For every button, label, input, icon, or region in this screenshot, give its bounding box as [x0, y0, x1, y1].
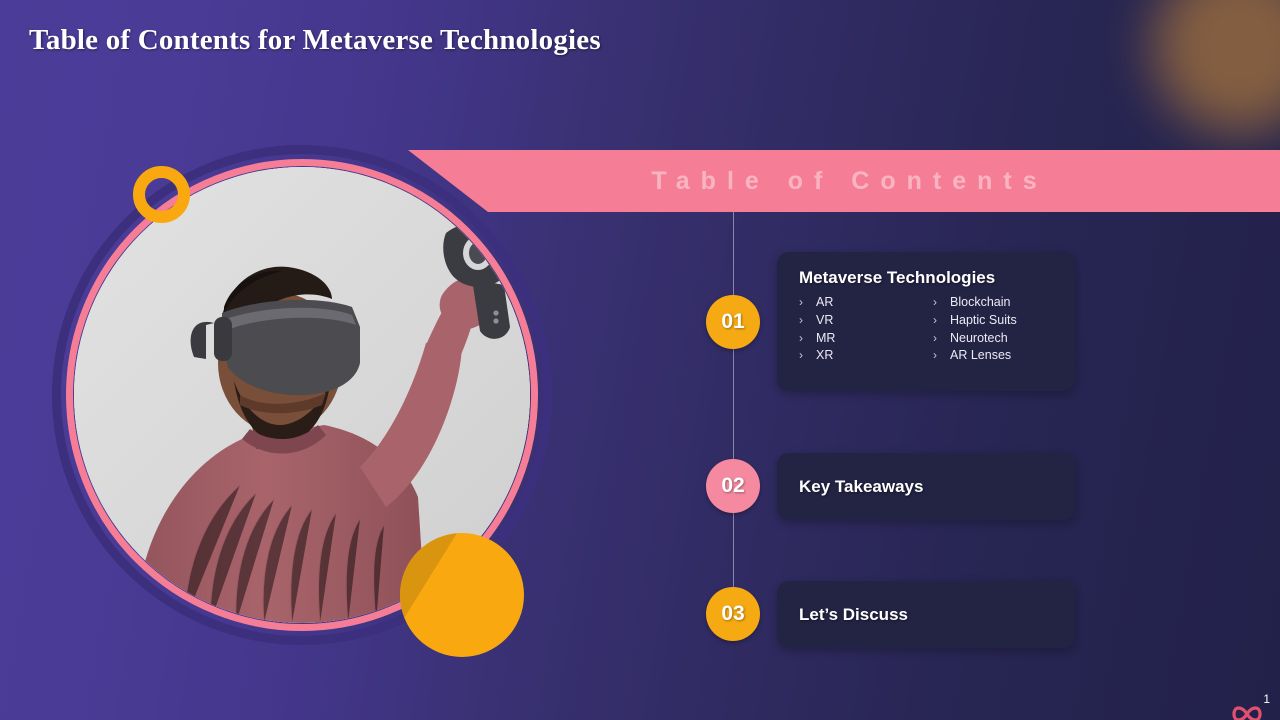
list-item-label: Neurotech	[950, 330, 1008, 348]
chevron-right-icon: ›	[799, 330, 816, 348]
chevron-right-icon: ›	[799, 347, 816, 365]
list-item-label: XR	[816, 347, 833, 365]
list-item-label: MR	[816, 330, 835, 348]
contents-badge-02[interactable]: 02	[706, 459, 760, 513]
infinity-logo-icon	[1218, 699, 1276, 720]
contents-card-01[interactable]: Metaverse Technologies ›AR ›VR ›MR ›XR ›…	[777, 252, 1075, 391]
contents-banner-label: Table of Contents	[408, 150, 1280, 212]
list-item-label: VR	[816, 312, 833, 330]
chevron-right-icon: ›	[933, 347, 950, 365]
list-item: ›Neurotech	[933, 330, 1067, 348]
list-item: ›Haptic Suits	[933, 312, 1067, 330]
contents-card-01-column-right: ›Blockchain ›Haptic Suits ›Neurotech ›AR…	[933, 294, 1067, 365]
list-item-label: AR	[816, 294, 833, 312]
contents-card-03-title: Let’s Discuss	[777, 581, 1075, 648]
timeline-connector	[733, 212, 734, 616]
contents-card-02[interactable]: Key Takeaways	[777, 453, 1075, 520]
page-title: Table of Contents for Metaverse Technolo…	[29, 24, 601, 57]
chevron-right-icon: ›	[799, 312, 816, 330]
chevron-right-icon: ›	[799, 294, 816, 312]
contents-card-03[interactable]: Let’s Discuss	[777, 581, 1075, 648]
contents-badge-03[interactable]: 03	[706, 587, 760, 641]
chevron-right-icon: ›	[933, 312, 950, 330]
contents-card-01-column-left: ›AR ›VR ›MR ›XR	[799, 294, 933, 365]
list-item: ›VR	[799, 312, 933, 330]
list-item-label: Haptic Suits	[950, 312, 1017, 330]
list-item: ›MR	[799, 330, 933, 348]
list-item: ›XR	[799, 347, 933, 365]
list-item: ›AR Lenses	[933, 347, 1067, 365]
chevron-right-icon: ›	[933, 330, 950, 348]
decorative-orange-ring-icon	[133, 166, 190, 223]
contents-card-02-title: Key Takeaways	[777, 453, 1075, 520]
contents-card-01-lists: ›AR ›VR ›MR ›XR ›Blockchain ›Haptic Suit…	[799, 294, 1075, 365]
list-item: ›AR	[799, 294, 933, 312]
list-item-label: AR Lenses	[950, 347, 1011, 365]
chevron-right-icon: ›	[933, 294, 950, 312]
slide: Table of Contents for Metaverse Technolo…	[0, 0, 1280, 720]
list-item: ›Blockchain	[933, 294, 1067, 312]
contents-badge-01[interactable]: 01	[706, 295, 760, 349]
list-item-label: Blockchain	[950, 294, 1010, 312]
contents-card-01-title: Metaverse Technologies	[799, 268, 1075, 288]
